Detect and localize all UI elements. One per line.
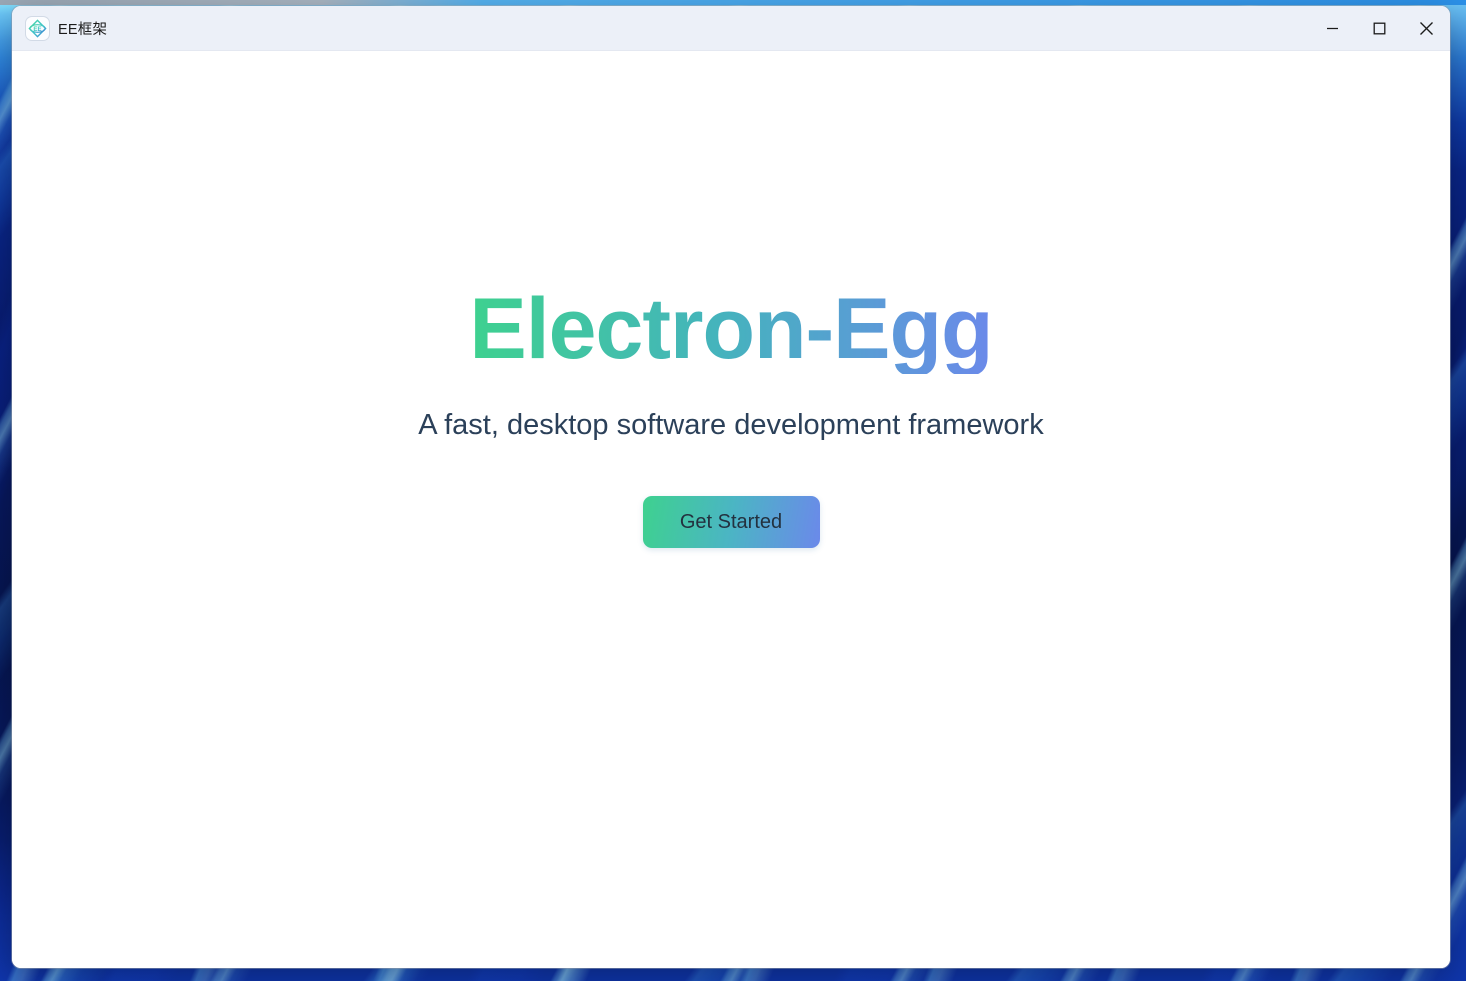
desktop-background: EE EE框架 xyxy=(0,0,1466,981)
window-title: EE框架 xyxy=(58,18,107,39)
window-controls xyxy=(1309,6,1450,50)
minimize-icon xyxy=(1326,22,1339,35)
page-content: Electron-Egg A fast, desktop software de… xyxy=(12,51,1450,968)
wallpaper-top-edge xyxy=(0,0,1466,5)
svg-text:EE: EE xyxy=(33,25,41,32)
page-title: Electron-Egg xyxy=(469,284,992,374)
minimize-button[interactable] xyxy=(1309,6,1356,51)
get-started-button[interactable]: Get Started xyxy=(643,496,820,548)
app-window: EE EE框架 xyxy=(12,6,1450,968)
maximize-icon xyxy=(1373,22,1386,35)
page-subtitle: A fast, desktop software development fra… xyxy=(418,409,1043,442)
close-icon xyxy=(1419,21,1434,36)
ee-logo-icon: EE xyxy=(26,17,49,40)
window-titlebar[interactable]: EE EE框架 xyxy=(12,6,1450,51)
close-button[interactable] xyxy=(1403,6,1450,51)
maximize-button[interactable] xyxy=(1356,6,1403,51)
titlebar-left-group: EE EE框架 xyxy=(12,6,107,50)
